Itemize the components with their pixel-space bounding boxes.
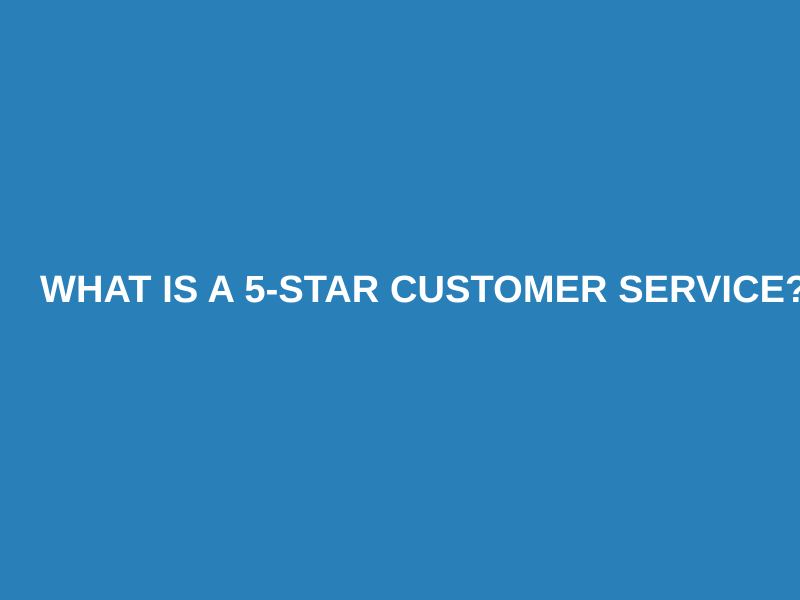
page-title: WHAT IS A 5-STAR CUSTOMER SERVICE? xyxy=(20,269,780,313)
featured-title-card: WHAT IS A 5-STAR CUSTOMER SERVICE? xyxy=(0,0,800,600)
